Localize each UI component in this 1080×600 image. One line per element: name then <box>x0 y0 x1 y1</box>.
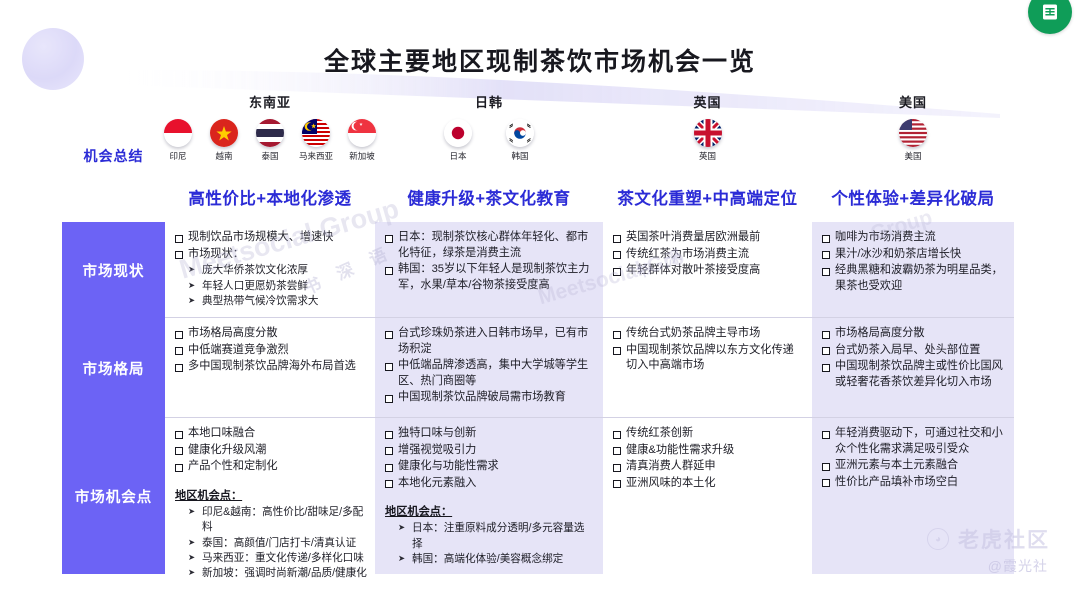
sub-section-heading: 地区机会点： <box>175 487 367 503</box>
flag-label: 马来西亚 <box>299 150 333 162</box>
list-item: 传统红茶创新 <box>613 426 804 442</box>
row-label-rail: 市场现状 市场格局 市场机会点 <box>62 222 165 574</box>
sub-bullet-list: 印尼&越南：高性价比/甜味足/多配料 泰国：高颜值/门店打卡/清真认证 马来西亚… <box>187 505 367 582</box>
list-item: 中国现制茶饮品牌以东方文化传递切入中高端市场 <box>613 343 804 374</box>
slogan-uk: 茶文化重塑+中高端定位 <box>603 186 812 216</box>
table-row-market-landscape: 市场格局高度分散 中低端赛道竞争激烈 多中国现制茶饮品牌海外布局首选 台式珍珠奶… <box>165 318 1014 418</box>
flag-korea-icon <box>506 119 534 147</box>
bullet-list: 日本：现制茶饮核心群体年轻化、都市化特征，绿茶是消费主流 韩国：35岁以下年轻人… <box>385 230 595 293</box>
flag-label: 英国 <box>699 150 716 162</box>
watermark-brand: ◕ 老虎社区 <box>927 524 1050 554</box>
flag-thailand-icon <box>256 119 284 147</box>
list-item: 增强视觉吸引力 <box>385 443 595 459</box>
list-item: 中国现制茶饮品牌破局需市场教育 <box>385 390 595 406</box>
list-item: 韩国：高端化体验/美容概念绑定 <box>397 552 595 567</box>
flag-strip: 日本 <box>438 119 540 171</box>
list-item: 市场现状： <box>175 247 367 263</box>
table-row-market-opportunity: 本地口味融合 健康化升级风潮 产品个性和定制化 地区机会点： 印尼&越南：高性价… <box>165 418 1014 574</box>
list-item: 本地口味融合 <box>175 426 367 442</box>
flag-singapore-icon <box>348 119 376 147</box>
watermark-brand-text: 老虎社区 <box>958 524 1050 554</box>
sub-bullet-list: 庞大华侨茶饮文化浓厚 年轻人口更愿奶茶尝鲜 典型热带气候冷饮需求大 <box>187 263 367 309</box>
bullet-list: 市场格局高度分散 台式奶茶入局早、处头部位置 中国现制茶饮品牌主或性价比国风或轻… <box>822 326 1006 390</box>
list-item: 泰国：高颜值/门店打卡/清真认证 <box>187 536 367 551</box>
list-item: 台式珍珠奶茶进入日韩市场早，已有市场积淀 <box>385 326 595 357</box>
flag-label: 美国 <box>904 150 921 162</box>
flag-indonesia-icon <box>164 119 192 147</box>
list-item: 庞大华侨茶饮文化浓厚 <box>187 263 367 278</box>
list-item: 市场格局高度分散 <box>175 326 367 342</box>
sub-section-heading: 地区机会点： <box>385 503 595 519</box>
list-item: 新加坡：强调时尚新潮/品质/健康化 <box>187 566 367 581</box>
list-item: 独特口味与创新 <box>385 426 595 442</box>
list-item: 中低端赛道竞争激烈 <box>175 343 367 359</box>
cell-opportunity-japan-korea: 独特口味与创新 增强视觉吸引力 健康化与功能性需求 本地化元素融入 地区机会点：… <box>375 418 603 574</box>
cell-landscape-usa: 市场格局高度分散 台式奶茶入局早、处头部位置 中国现制茶饮品牌主或性价比国风或轻… <box>812 318 1014 418</box>
cell-opportunity-southeast-asia: 本地口味融合 健康化升级风潮 产品个性和定制化 地区机会点： 印尼&越南：高性价… <box>165 418 375 574</box>
cell-opportunity-uk: 传统红茶创新 健康&功能性需求升级 清真消费人群延申 亚洲风味的本土化 <box>603 418 812 574</box>
list-item: 经典黑糖和波霸奶茶为明星品类，果茶也受欢迎 <box>822 263 1006 294</box>
slogan-row: 高性价比+本地化渗透 健康升级+茶文化教育 茶文化重塑+中高端定位 个性体验+差… <box>165 186 1014 216</box>
list-item: 英国茶叶消费量居欧洲最前 <box>613 230 804 246</box>
slide-canvas: 全球主要地区现制茶饮市场机会一览 机会总结 东南亚 印尼 越南 <box>0 0 1080 600</box>
flag-malaysia-icon <box>302 119 330 147</box>
list-item: 健康化升级风潮 <box>175 443 367 459</box>
flag-label: 印尼 <box>169 150 186 162</box>
cell-status-usa: 咖啡为市场消费主流 果汁/冰沙和奶茶店增长快 经典黑糖和波霸奶茶为明星品类，果茶… <box>812 222 1014 318</box>
region-name: 英国 <box>693 92 721 111</box>
list-item: 健康&功能性需求升级 <box>613 443 804 459</box>
flag-item: 泰国 <box>250 119 290 162</box>
cell-landscape-uk: 传统台式奶茶品牌主导市场 中国现制茶饮品牌以东方文化传递切入中高端市场 <box>603 318 812 418</box>
row-label-market-opportunity: 市场机会点 <box>62 418 165 574</box>
list-item: 亚洲风味的本土化 <box>613 476 804 492</box>
flag-item: 美国 <box>893 119 933 162</box>
flag-item: 英国 <box>688 119 728 162</box>
flag-usa-icon <box>899 119 927 147</box>
list-item: 咖啡为市场消费主流 <box>822 230 1006 246</box>
cell-landscape-southeast-asia: 市场格局高度分散 中低端赛道竞争激烈 多中国现制茶饮品牌海外布局首选 <box>165 318 375 418</box>
bullet-list: 传统台式奶茶品牌主导市场 中国现制茶饮品牌以东方文化传递切入中高端市场 <box>613 326 804 374</box>
cell-landscape-japan-korea: 台式珍珠奶茶进入日韩市场早，已有市场积淀 中低端品牌渗透高，集中大学城等学生区、… <box>375 318 603 418</box>
bullet-list: 台式珍珠奶茶进入日韩市场早，已有市场积淀 中低端品牌渗透高，集中大学城等学生区、… <box>385 326 595 406</box>
list-item: 亚洲元素与本土元素融合 <box>822 458 1006 474</box>
flag-label: 泰国 <box>261 150 278 162</box>
flag-label: 越南 <box>215 150 232 162</box>
bullet-list: 传统红茶创新 健康&功能性需求升级 清真消费人群延申 亚洲风味的本土化 <box>613 426 804 491</box>
cell-status-japan-korea: 日本：现制茶饮核心群体年轻化、都市化特征，绿茶是消费主流 韩国：35岁以下年轻人… <box>375 222 603 318</box>
flag-strip: 印尼 越南 泰国 <box>158 119 382 171</box>
flag-label: 日本 <box>449 150 466 162</box>
tiger-logo-icon: ◕ <box>927 528 949 550</box>
flag-item: 韩国 <box>500 119 540 162</box>
list-item: 果汁/冰沙和奶茶店增长快 <box>822 247 1006 263</box>
region-name: 东南亚 <box>249 92 291 111</box>
flag-label: 韩国 <box>511 150 528 162</box>
list-item: 韩国：35岁以下年轻人是现制茶饮主力军，水果/草本/谷物茶接受度高 <box>385 262 595 293</box>
left-header-label: 机会总结 <box>62 146 165 166</box>
list-item: 日本：注重原料成分透明/多元容量选择 <box>397 521 595 552</box>
flag-vietnam-icon <box>210 119 238 147</box>
flag-strip: 美国 <box>893 119 933 171</box>
bullet-list: 现制饮品市场规模大、增速快 市场现状： <box>175 230 367 262</box>
list-item: 多中国现制茶饮品牌海外布局首选 <box>175 359 367 375</box>
bullet-list: 市场格局高度分散 中低端赛道竞争激烈 多中国现制茶饮品牌海外布局首选 <box>175 326 367 375</box>
list-item: 年轻群体对散叶茶接受度高 <box>613 263 804 279</box>
bullet-list: 咖啡为市场消费主流 果汁/冰沙和奶茶店增长快 经典黑糖和波霸奶茶为明星品类，果茶… <box>822 230 1006 294</box>
cell-status-uk: 英国茶叶消费量居欧洲最前 传统红茶为市场消费主流 年轻群体对散叶茶接受度高 <box>603 222 812 318</box>
list-item: 年轻人口更愿奶茶尝鲜 <box>187 279 367 294</box>
flag-item: 越南 <box>204 119 244 162</box>
slogan-southeast-asia: 高性价比+本地化渗透 <box>165 186 375 216</box>
bullet-list: 独特口味与创新 增强视觉吸引力 健康化与功能性需求 本地化元素融入 <box>385 426 595 491</box>
watermark-handle: @霞光社 <box>988 556 1048 576</box>
slogan-japan-korea: 健康升级+茶文化教育 <box>375 186 603 216</box>
region-name: 日韩 <box>475 92 503 111</box>
list-item: 中低端品牌渗透高，集中大学城等学生区、热门商圈等 <box>385 358 595 389</box>
list-item: 本地化元素融入 <box>385 476 595 492</box>
list-item: 市场格局高度分散 <box>822 326 1006 342</box>
row-label-market-landscape: 市场格局 <box>62 318 165 418</box>
page-title: 全球主要地区现制茶饮市场机会一览 <box>0 42 1080 78</box>
list-item: 马来西亚：重文化传递/多样化口味 <box>187 551 367 566</box>
list-item: 现制饮品市场规模大、增速快 <box>175 230 367 246</box>
flag-strip: 英国 <box>688 119 728 171</box>
region-name: 美国 <box>899 92 927 111</box>
sheets-icon[interactable] <box>1028 0 1072 34</box>
bullet-list: 本地口味融合 健康化升级风潮 产品个性和定制化 <box>175 426 367 475</box>
flag-uk-icon <box>694 119 722 147</box>
cell-status-southeast-asia: 现制饮品市场规模大、增速快 市场现状： 庞大华侨茶饮文化浓厚 年轻人口更愿奶茶尝… <box>165 222 375 318</box>
list-item: 性价比产品填补市场空白 <box>822 475 1006 491</box>
list-item: 中国现制茶饮品牌主或性价比国风或轻奢花香茶饮差异化切入市场 <box>822 359 1006 390</box>
content-table: 现制饮品市场规模大、增速快 市场现状： 庞大华侨茶饮文化浓厚 年轻人口更愿奶茶尝… <box>165 222 1014 574</box>
list-item: 典型热带气候冷饮需求大 <box>187 294 367 309</box>
flag-item: 日本 <box>438 119 478 162</box>
list-item: 清真消费人群延申 <box>613 459 804 475</box>
bullet-list: 年轻消费驱动下，可通过社交和小众个性化需求满足吸引受众 亚洲元素与本土元素融合 … <box>822 426 1006 490</box>
list-item: 健康化与功能性需求 <box>385 459 595 475</box>
list-item: 日本：现制茶饮核心群体年轻化、都市化特征，绿茶是消费主流 <box>385 230 595 261</box>
flag-label: 新加坡 <box>349 150 375 162</box>
row-label-market-status: 市场现状 <box>62 222 165 318</box>
slogan-usa: 个性体验+差异化破局 <box>812 186 1014 216</box>
flag-item: 印尼 <box>158 119 198 162</box>
sub-bullet-list: 日本：注重原料成分透明/多元容量选择 韩国：高端化体验/美容概念绑定 <box>397 521 595 567</box>
flag-japan-icon <box>444 119 472 147</box>
list-item: 台式奶茶入局早、处头部位置 <box>822 343 1006 359</box>
list-item: 年轻消费驱动下，可通过社交和小众个性化需求满足吸引受众 <box>822 426 1006 457</box>
flag-item: 马来西亚 <box>296 119 336 162</box>
list-item: 传统红茶为市场消费主流 <box>613 247 804 263</box>
list-item: 印尼&越南：高性价比/甜味足/多配料 <box>187 505 367 536</box>
bullet-list: 英国茶叶消费量居欧洲最前 传统红茶为市场消费主流 年轻群体对散叶茶接受度高 <box>613 230 804 279</box>
list-item: 传统台式奶茶品牌主导市场 <box>613 326 804 342</box>
list-item: 产品个性和定制化 <box>175 459 367 475</box>
table-row-market-status: 现制饮品市场规模大、增速快 市场现状： 庞大华侨茶饮文化浓厚 年轻人口更愿奶茶尝… <box>165 222 1014 318</box>
